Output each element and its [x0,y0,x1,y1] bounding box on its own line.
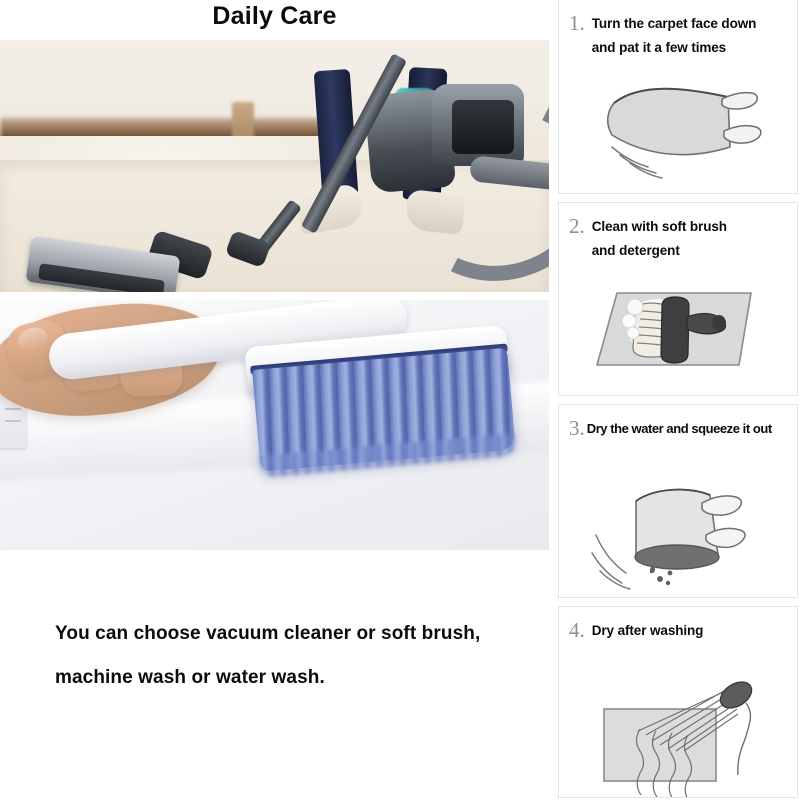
step-card-1[interactable]: 1. Turn the carpet face down and pat it … [558,0,798,194]
step-4-number: 4. [569,619,585,641]
step-3-number: 3. [569,417,585,439]
step-card-4[interactable]: 4. Dry after washing [558,606,798,798]
step-4-header: 4. Dry after washing [559,607,797,643]
step-2-label: Clean with soft brush and detergent [592,215,727,263]
step-2-number: 2. [569,215,585,237]
page-title: Daily Care [0,2,549,31]
caption-line-2: machine wash or water wash. [55,656,535,700]
step-2-header: 2. Clean with soft brush and detergent [559,203,797,263]
carpet-pat-icon [559,69,797,189]
care-caption: You can choose vacuum cleaner or soft br… [55,612,535,700]
step-1-header: 1. Turn the carpet face down and pat it … [559,0,797,60]
brush-detergent-icon [559,271,797,391]
left-column: Daily Care [0,0,549,800]
step-4-label: Dry after washing [592,619,704,643]
vacuum-cleaner-photo [0,40,549,292]
step-3-label: Dry the water and squeeze it out [587,417,772,441]
soft-brush-photo [0,300,549,550]
daily-care-infographic: Daily Care [0,0,800,800]
step-card-3[interactable]: 3. Dry the water and squeeze it out [558,404,798,598]
shower-dry-icon [559,673,797,793]
step-3-header: 3. Dry the water and squeeze it out [559,405,797,441]
step-1-number: 1. [569,12,585,34]
squeeze-water-icon [559,473,797,593]
brush-bristles [252,348,516,472]
caption-line-1: You can choose vacuum cleaner or soft br… [55,612,535,656]
step-1-label: Turn the carpet face down and pat it a f… [592,12,757,60]
step-card-2[interactable]: 2. Clean with soft brush and detergent [558,202,798,396]
steps-column: 1. Turn the carpet face down and pat it … [549,0,800,800]
